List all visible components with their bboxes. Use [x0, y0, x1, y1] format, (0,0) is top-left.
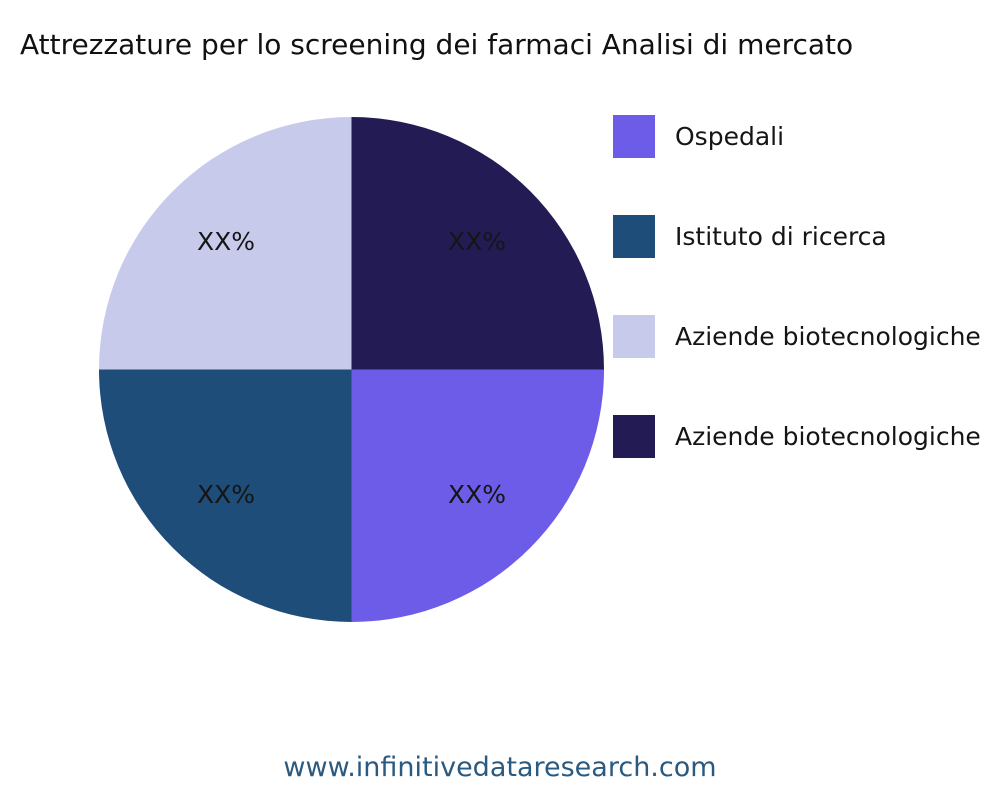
footer-watermark-url: www.infinitivedataresearch.com: [0, 752, 1000, 783]
chart-legend: Ospedali Istituto di ricerca Aziende bio…: [613, 115, 1000, 515]
legend-swatch-aziende-biotecnologiche-2: [613, 415, 655, 458]
pie-slice-label-bottom-left: XX%: [197, 480, 255, 509]
pie-chart-svg: XX% XX% XX% XX%: [99, 117, 604, 622]
pie-slice-label-top-right: XX%: [448, 227, 506, 256]
pie-slice-label-top-left: XX%: [197, 227, 255, 256]
legend-label-aziende-biotecnologiche-1: Aziende biotecnologiche: [675, 315, 981, 358]
legend-label-aziende-biotecnologiche-2: Aziende biotecnologiche: [675, 415, 981, 458]
legend-item-aziende-biotecnologiche-1[interactable]: Aziende biotecnologiche: [613, 315, 1000, 415]
legend-label-istituto-di-ricerca: Istituto di ricerca: [675, 215, 887, 258]
page-title: Attrezzature per lo screening dei farmac…: [20, 28, 1000, 61]
pie-chart: XX% XX% XX% XX%: [99, 117, 604, 622]
footer-url-text: www.infinitivedataresearch.com: [283, 752, 716, 783]
legend-swatch-istituto-di-ricerca: [613, 215, 655, 258]
pie-slice-label-bottom-right: XX%: [448, 480, 506, 509]
legend-item-ospedali[interactable]: Ospedali: [613, 115, 1000, 215]
legend-swatch-ospedali: [613, 115, 655, 158]
chart-plot-area: XX% XX% XX% XX% Ospedali Istituto di ric…: [0, 90, 1000, 670]
legend-swatch-aziende-biotecnologiche-1: [613, 315, 655, 358]
legend-item-aziende-biotecnologiche-2[interactable]: Aziende biotecnologiche: [613, 415, 1000, 515]
legend-item-istituto-di-ricerca[interactable]: Istituto di ricerca: [613, 215, 1000, 315]
legend-label-ospedali: Ospedali: [675, 115, 784, 158]
